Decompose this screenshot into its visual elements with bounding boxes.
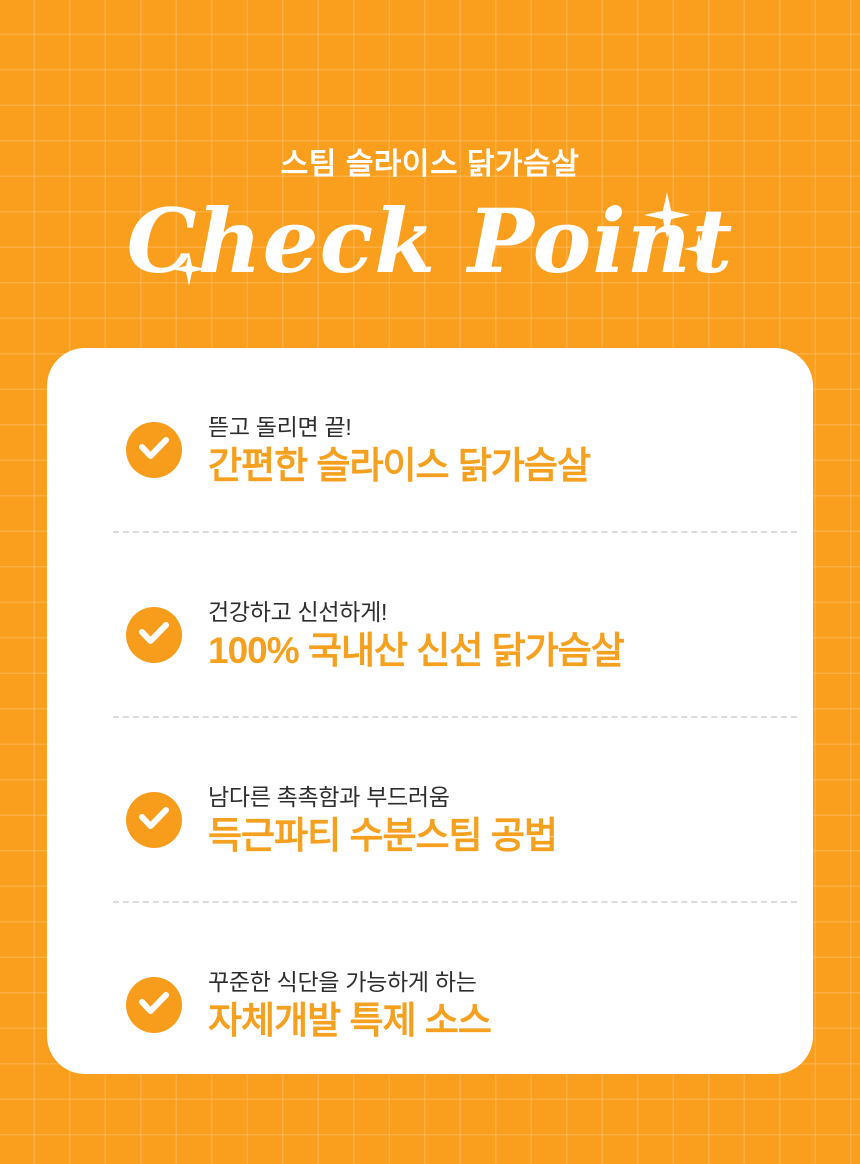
list-divider bbox=[113, 901, 797, 903]
list-item-headline: 득근파티 수분스팀 공법 bbox=[208, 815, 557, 856]
list-item-headline: 100% 국내산 신선 닭가슴살 bbox=[208, 630, 624, 671]
check-circle-icon bbox=[126, 977, 182, 1033]
product-eyebrow-title: 스팀 슬라이스 닭가슴살 bbox=[0, 148, 860, 181]
list-item-text: 건강하고 신선하게! 100% 국내산 신선 닭가슴살 bbox=[208, 599, 624, 672]
wordmark-container: Check Point bbox=[0, 187, 860, 297]
list-item-headline: 자체개발 특제 소스 bbox=[208, 1000, 491, 1041]
list-item-subtitle: 꾸준한 식단을 가능하게 하는 bbox=[208, 969, 491, 995]
list-item-text: 남다른 촉촉함과 부드러움 득근파티 수분스팀 공법 bbox=[208, 784, 557, 857]
list-item: 건강하고 신선하게! 100% 국내산 신선 닭가슴살 bbox=[47, 580, 813, 690]
check-point-wordmark: Check Point bbox=[0, 187, 860, 295]
feature-card: 뜯고 돌리면 끝! 간편한 슬라이스 닭가슴살 건강하고 신선하게! 100% … bbox=[47, 348, 813, 1074]
list-item-text: 꾸준한 식단을 가능하게 하는 자체개발 특제 소스 bbox=[208, 969, 491, 1042]
check-circle-icon bbox=[126, 607, 182, 663]
check-circle-icon bbox=[126, 422, 182, 478]
list-item-headline: 간편한 슬라이스 닭가슴살 bbox=[208, 445, 590, 486]
list-item: 남다른 촉촉함과 부드러움 득근파티 수분스팀 공법 bbox=[47, 765, 813, 875]
check-circle-icon bbox=[126, 792, 182, 848]
list-item: 꾸준한 식단을 가능하게 하는 자체개발 특제 소스 bbox=[47, 950, 813, 1060]
list-divider bbox=[113, 531, 797, 533]
poster-header: 스팀 슬라이스 닭가슴살 Check Point bbox=[0, 0, 860, 297]
promo-poster: 스팀 슬라이스 닭가슴살 Check Point 뜯고 돌리면 끝! 간편한 슬… bbox=[0, 0, 860, 1164]
checkpoint-list: 뜯고 돌리면 끝! 간편한 슬라이스 닭가슴살 건강하고 신선하게! 100% … bbox=[47, 348, 813, 1060]
list-item-subtitle: 뜯고 돌리면 끝! bbox=[208, 414, 590, 440]
list-item-subtitle: 건강하고 신선하게! bbox=[208, 599, 624, 625]
list-item-subtitle: 남다른 촉촉함과 부드러움 bbox=[208, 784, 557, 810]
list-divider bbox=[113, 716, 797, 718]
list-item-text: 뜯고 돌리면 끝! 간편한 슬라이스 닭가슴살 bbox=[208, 414, 590, 487]
list-item: 뜯고 돌리면 끝! 간편한 슬라이스 닭가슴살 bbox=[47, 395, 813, 505]
